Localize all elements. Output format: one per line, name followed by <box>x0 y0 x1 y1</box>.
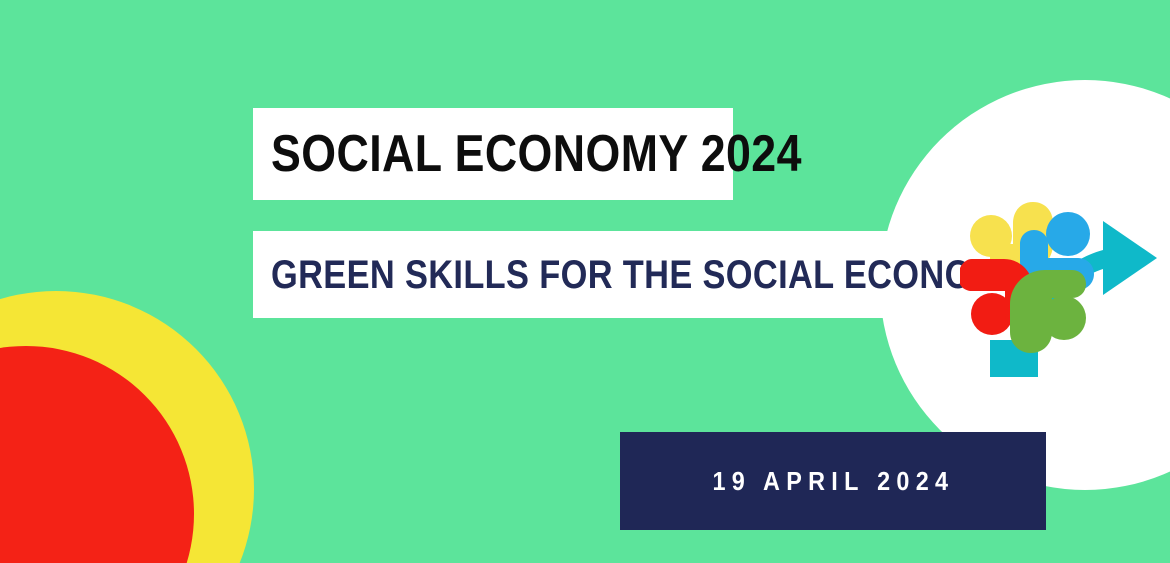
page-subtitle: GREEN SKILLS FOR THE SOCIAL ECONOMY <box>271 255 1024 295</box>
social-economy-logo <box>960 192 1165 382</box>
subtitle-box: GREEN SKILLS FOR THE SOCIAL ECONOMY <box>253 231 913 318</box>
event-banner: SOCIAL ECONOMY 2024 GREEN SKILLS FOR THE… <box>0 0 1170 563</box>
date-badge-label: 19 APRIL 2024 <box>712 466 954 497</box>
title-box: SOCIAL ECONOMY 2024 <box>253 108 733 200</box>
date-badge: 19 APRIL 2024 <box>620 432 1046 530</box>
page-title: SOCIAL ECONOMY 2024 <box>271 128 802 180</box>
figure-green-icon <box>1010 270 1086 353</box>
